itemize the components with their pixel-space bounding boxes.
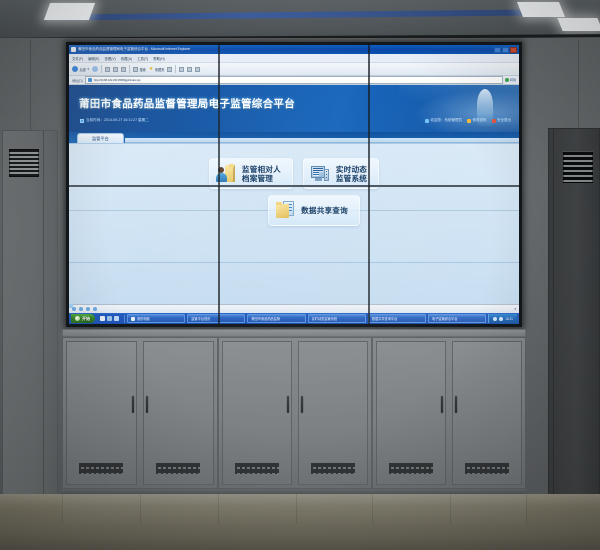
floor-reflection	[62, 494, 526, 528]
logout-label: 安全退出	[497, 118, 511, 123]
vent-grille-icon	[156, 463, 200, 474]
floor	[0, 494, 600, 550]
go-arrow-icon	[505, 78, 509, 82]
exit-icon	[492, 119, 496, 123]
media-icon[interactable]	[167, 67, 172, 72]
floor-tile-line	[526, 494, 527, 524]
logout-link[interactable]: 安全退出	[492, 118, 512, 123]
toolbar-separator	[101, 65, 102, 73]
taskbar-window-label: 莆田市食品药品监管	[251, 316, 280, 321]
menu-item-view[interactable]: 查看(V)	[104, 56, 115, 61]
address-bar[interactable]: 地址(D) http://10.68.102.231:8080/jgpt/ind…	[69, 76, 519, 85]
floor-tile-line	[450, 494, 451, 524]
taskbar-window-label: 数据共享查询平台	[372, 316, 398, 321]
page-tab-bar[interactable]: 监管平台	[69, 132, 519, 143]
video-wall: 莆田市食品药品监督管理局电子监管综合平台 - Microsoft Interne…	[66, 42, 522, 327]
vent-grille-icon	[9, 149, 39, 177]
back-label: 后退	[80, 67, 86, 72]
secondary-toolbar[interactable]: ▾	[69, 304, 519, 313]
vent-grille-icon	[465, 463, 509, 474]
taskbar-window-label: 监管平台首页	[191, 316, 210, 321]
page-content: 监管相对人 档案管理 实时动态	[69, 143, 519, 314]
cabinet-door-left[interactable]	[66, 341, 137, 485]
system-tray[interactable]: 16:11	[488, 314, 517, 323]
taskbar-window-label: 我的电脑	[137, 316, 150, 321]
user-icon	[425, 119, 429, 123]
cabinet-handle[interactable]	[287, 396, 289, 413]
tile-label-line2: 监管系统	[336, 174, 367, 183]
browser-window-title: 莆田市食品药品监督管理局电子监管综合平台 - Microsoft Interne…	[78, 47, 492, 52]
menu-item-edit[interactable]: 编辑(E)	[88, 56, 99, 61]
tile-row: 数据共享查询	[228, 195, 360, 226]
key-icon	[467, 119, 471, 123]
cabinet-handle[interactable]	[455, 396, 457, 413]
network-icon[interactable]	[493, 317, 497, 321]
address-label: 地址(D)	[72, 78, 83, 83]
go-label: 转到	[510, 78, 516, 82]
video-wall-display: 莆田市食品药品监督管理局电子监管综合平台 - Microsoft Interne…	[69, 45, 519, 324]
floor-tile-line	[140, 494, 141, 524]
media-player-icon[interactable]	[114, 316, 119, 321]
tile-regulated-party-archive[interactable]: 监管相对人 档案管理	[209, 158, 293, 189]
left-wall-panel	[2, 130, 58, 508]
taskbar-window-label: 电子监管综合平台	[432, 316, 458, 321]
browser-toolbar[interactable]: 后退 ▾ 搜索 ★ 收藏夹	[69, 63, 519, 76]
search-button[interactable]: 搜索	[133, 67, 146, 72]
favorites-label: 收藏夹	[155, 67, 165, 72]
home-icon[interactable]	[86, 307, 90, 311]
change-password-label: 修改密码	[473, 118, 487, 123]
close-icon[interactable]	[510, 47, 517, 53]
floor-tile-line	[218, 494, 219, 524]
ceiling-blue-band	[60, 10, 530, 21]
page-body: 莆田市食品药品监督管理局电子监管综合平台 当前时间：2014-09-27 16:…	[69, 85, 519, 324]
vent-grille-icon	[389, 463, 433, 474]
floor-tile-line	[296, 494, 297, 524]
cabinet-handle[interactable]	[132, 396, 134, 413]
address-url: http://10.68.102.231:8080/jgpt/index.jsp	[94, 78, 141, 82]
tile-data-sharing-query[interactable]: 数据共享查询	[268, 195, 360, 226]
taskbar-window-button[interactable]: 电子监管综合平台	[428, 314, 486, 323]
menu-item-favorites[interactable]: 收藏(A)	[121, 56, 132, 61]
page-icon	[88, 78, 92, 82]
ceiling-light-panel	[517, 2, 565, 17]
star-icon: ★	[149, 67, 153, 72]
content-divider	[69, 262, 519, 263]
refresh-icon[interactable]	[113, 67, 118, 72]
tile-label-line2: 档案管理	[242, 174, 281, 183]
person-folder-icon	[217, 164, 236, 183]
taskbar-window-label: 实时动态监管系统	[312, 316, 338, 321]
ie-logo-icon	[71, 47, 76, 52]
tile-label: 监管相对人 档案管理	[242, 165, 281, 183]
back-button[interactable]: 后退 ▾	[72, 66, 89, 72]
chevron-down-icon[interactable]: ▾	[514, 307, 516, 311]
vent-grille-icon	[235, 463, 279, 474]
page-banner: 莆田市食品药品监督管理局电子监管综合平台 当前时间：2014-09-27 16:…	[69, 85, 519, 132]
start-button[interactable]: 开始	[71, 314, 95, 323]
tile-label: 数据共享查询	[301, 206, 348, 215]
module-tiles: 监管相对人 档案管理 实时动态	[69, 158, 519, 226]
ceiling-light-panel	[44, 3, 95, 20]
banner-user-links[interactable]: 欢迎您：系统管理员 修改密码 安全退出	[425, 118, 511, 123]
cabinet-door-right[interactable]	[452, 341, 522, 485]
taskbar-separator	[124, 315, 125, 323]
monitor-screen-icon	[311, 164, 330, 183]
control-room-scene: 莆田市食品药品监督管理局电子监管综合平台 - Microsoft Interne…	[0, 0, 600, 550]
floor-tile-line	[62, 494, 63, 524]
change-password-link[interactable]: 修改密码	[467, 118, 487, 123]
cabinet-door-right[interactable]	[298, 341, 368, 485]
cabinet-handle[interactable]	[441, 396, 443, 413]
tab-supervision-platform[interactable]: 监管平台	[77, 133, 124, 143]
back-arrow-icon	[72, 66, 78, 72]
folder-data-icon	[276, 201, 295, 220]
taskbar-window-button[interactable]: 实时动态监管系统	[308, 314, 366, 323]
clock-label[interactable]: 16:11	[505, 317, 513, 321]
start-label: 开始	[82, 316, 90, 322]
cabinet-handle[interactable]	[301, 396, 303, 413]
ceiling-light-panel	[557, 18, 600, 31]
browser-title-bar: 莆田市食品药品监督管理局电子监管综合平台 - Microsoft Interne…	[69, 45, 519, 54]
panel-seam	[553, 129, 554, 505]
page-title: 莆田市食品药品监督管理局电子监管综合平台	[79, 96, 295, 111]
taskbar-window-button[interactable]: 莆田市食品药品监管	[247, 314, 305, 323]
tile-row: 监管相对人 档案管理 实时动态	[209, 158, 379, 189]
ceiling	[0, 0, 600, 40]
go-button[interactable]: 转到	[505, 78, 516, 82]
cabinet-door-left[interactable]	[222, 341, 292, 485]
browser-menu-bar[interactable]: 文件(F) 编辑(E) 查看(V) 收藏(A) 工具(T) 帮助(H)	[69, 54, 519, 63]
stop-icon[interactable]	[105, 67, 110, 72]
quick-launch[interactable]	[97, 316, 122, 321]
history-icon[interactable]	[179, 67, 184, 72]
tile-realtime-monitoring-system[interactable]: 实时动态 监管系统	[303, 158, 379, 189]
panel-seam	[43, 131, 44, 507]
taskbar-window-button[interactable]: 监管平台首页	[187, 314, 245, 323]
cabinet-top-rail	[62, 329, 526, 337]
window-controls[interactable]	[494, 47, 517, 53]
refresh-icon[interactable]	[79, 307, 83, 311]
favorites-button[interactable]: ★ 收藏夹	[149, 67, 165, 72]
cabinet-door-right[interactable]	[143, 341, 214, 485]
floor-tile-line	[372, 494, 373, 524]
print-icon[interactable]	[195, 67, 200, 72]
banner-datetime: 当前时间：2014-09-27 16:11:27 星期二	[80, 118, 149, 123]
taskbar-window-button[interactable]: 我的电脑	[127, 314, 185, 323]
vent-grille-icon	[563, 151, 593, 183]
clock-icon	[80, 119, 84, 123]
folder-icon	[131, 317, 135, 321]
cabinet-handle[interactable]	[146, 396, 148, 413]
taskbar-window-button[interactable]: 数据共享查询平台	[368, 314, 426, 323]
windows-logo-icon	[75, 316, 80, 321]
search-label: 搜索	[139, 67, 145, 72]
search-icon	[133, 67, 138, 72]
tile-label-line1: 实时动态	[336, 165, 367, 174]
ie-icon[interactable]	[107, 316, 112, 321]
tile-label: 实时动态 监管系统	[336, 165, 367, 183]
menu-item-help[interactable]: 帮助(H)	[153, 56, 165, 61]
chevron-down-icon[interactable]: ▾	[87, 67, 89, 71]
home-icon[interactable]	[121, 67, 126, 72]
toolbar-separator	[129, 65, 130, 73]
minimize-button[interactable]	[494, 47, 501, 53]
os-taskbar-area: ▾ 开始 我的电脑	[69, 304, 519, 324]
windows-taskbar[interactable]: 开始 我的电脑 监管平台首页	[69, 313, 519, 324]
cabinet-unit[interactable]	[372, 337, 526, 489]
welcome-user: 欢迎您：系统管理员	[425, 118, 462, 123]
maximize-button[interactable]	[502, 47, 509, 53]
menu-item-tools[interactable]: 工具(T)	[137, 56, 148, 61]
menu-item-file[interactable]: 文件(F)	[72, 56, 83, 61]
toolbar-separator	[175, 65, 176, 73]
datetime-text: 当前时间：2014-09-27 16:11:27 星期二	[86, 118, 149, 123]
mail-icon[interactable]	[187, 67, 192, 72]
show-desktop-icon[interactable]	[100, 316, 105, 321]
vent-grille-icon	[311, 463, 355, 474]
cabinet-unit[interactable]	[218, 337, 372, 489]
address-input[interactable]: http://10.68.102.231:8080/jgpt/index.jsp	[85, 76, 503, 84]
browser-window: 莆田市食品药品监督管理局电子监管综合平台 - Microsoft Interne…	[69, 45, 519, 324]
vent-grille-icon	[79, 463, 123, 474]
cabinet-door-left[interactable]	[376, 341, 446, 485]
right-door-panel[interactable]	[548, 128, 600, 506]
cabinet-unit[interactable]	[62, 337, 218, 489]
tile-label-line1: 监管相对人	[242, 165, 281, 174]
bookmark-icon[interactable]	[93, 307, 97, 311]
forward-arrow-icon[interactable]	[92, 66, 98, 72]
volume-icon[interactable]	[499, 317, 503, 321]
welcome-label: 欢迎您：系统管理员	[431, 118, 463, 123]
tile-label-line1: 数据共享查询	[301, 206, 348, 215]
